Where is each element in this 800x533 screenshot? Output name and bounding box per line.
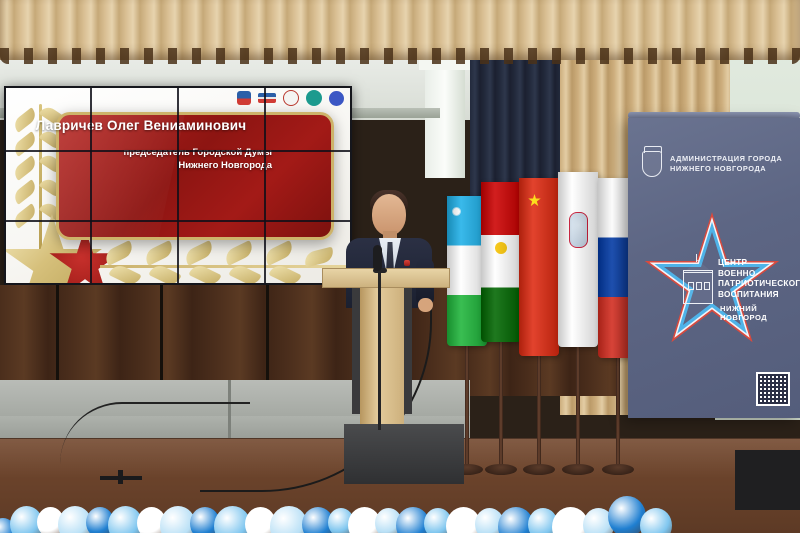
flag-china-base bbox=[523, 464, 555, 475]
vertical-banner: АДМИНИСТРАЦИЯ ГОРОДА НИЖНЕГО НОВГОРОДА Ц… bbox=[628, 118, 800, 418]
microphone-icon bbox=[373, 245, 382, 271]
floor-speaker-box bbox=[735, 450, 800, 510]
banner-header-line-2: НИЖНЕГО НОВГОРОДА bbox=[670, 164, 792, 174]
flag-tajikistan-base bbox=[485, 464, 517, 475]
banner-center-line-2: ВОЕННО- bbox=[718, 269, 800, 280]
video-wall-frame bbox=[4, 86, 352, 285]
podium-column bbox=[360, 286, 404, 426]
flag-nizhny-novgorod-base bbox=[562, 464, 594, 475]
led-video-wall: Лавричев Олег Вениаминович председатель … bbox=[4, 86, 352, 285]
flag-russia-base bbox=[602, 464, 634, 475]
curtain-scallop-trim bbox=[0, 48, 800, 64]
microphone-stand bbox=[378, 270, 381, 430]
kremlin-tower-icon bbox=[680, 254, 714, 302]
banner-center-line-3: ПАТРИОТИЧЕСКОГО bbox=[718, 279, 800, 290]
photo-scene: Лавричев Олег Вениаминович председатель … bbox=[0, 0, 800, 533]
flag-china bbox=[519, 178, 559, 356]
nizhny-novgorod-crest-icon bbox=[642, 151, 662, 177]
speaker-hand bbox=[418, 298, 433, 312]
balloon-decoration-row bbox=[0, 489, 800, 533]
banner-header-text: АДМИНИСТРАЦИЯ ГОРОДА НИЖНЕГО НОВГОРОДА bbox=[670, 154, 792, 174]
wood-panel-seam bbox=[56, 285, 59, 385]
balloon bbox=[640, 508, 672, 533]
banner-header-line-1: АДМИНИСТРАЦИЯ ГОРОДА bbox=[670, 154, 792, 164]
banner-center-line-4: ВОСПИТАНИЯ bbox=[718, 290, 800, 301]
flag-nizhny-novgorod bbox=[558, 172, 598, 347]
banner-center-line-1: ЦЕНТР bbox=[718, 258, 800, 269]
flag-tajikistan bbox=[481, 182, 521, 342]
banner-city-text: НИЖНИЙ НОВГОРОД bbox=[720, 304, 800, 322]
podium-base bbox=[344, 424, 464, 484]
speaker-head bbox=[372, 194, 406, 236]
banner-center-text: ЦЕНТР ВОЕННО- ПАТРИОТИЧЕСКОГО ВОСПИТАНИЯ bbox=[718, 258, 800, 300]
floor-monitor-stand bbox=[100, 470, 142, 484]
wall-pillar bbox=[425, 58, 465, 178]
speaker-lapel-pin bbox=[404, 260, 410, 266]
floor-cable bbox=[60, 402, 250, 464]
podium-side-right bbox=[403, 286, 412, 414]
qr-code-icon bbox=[756, 372, 790, 406]
wood-panel-seam bbox=[160, 285, 163, 385]
